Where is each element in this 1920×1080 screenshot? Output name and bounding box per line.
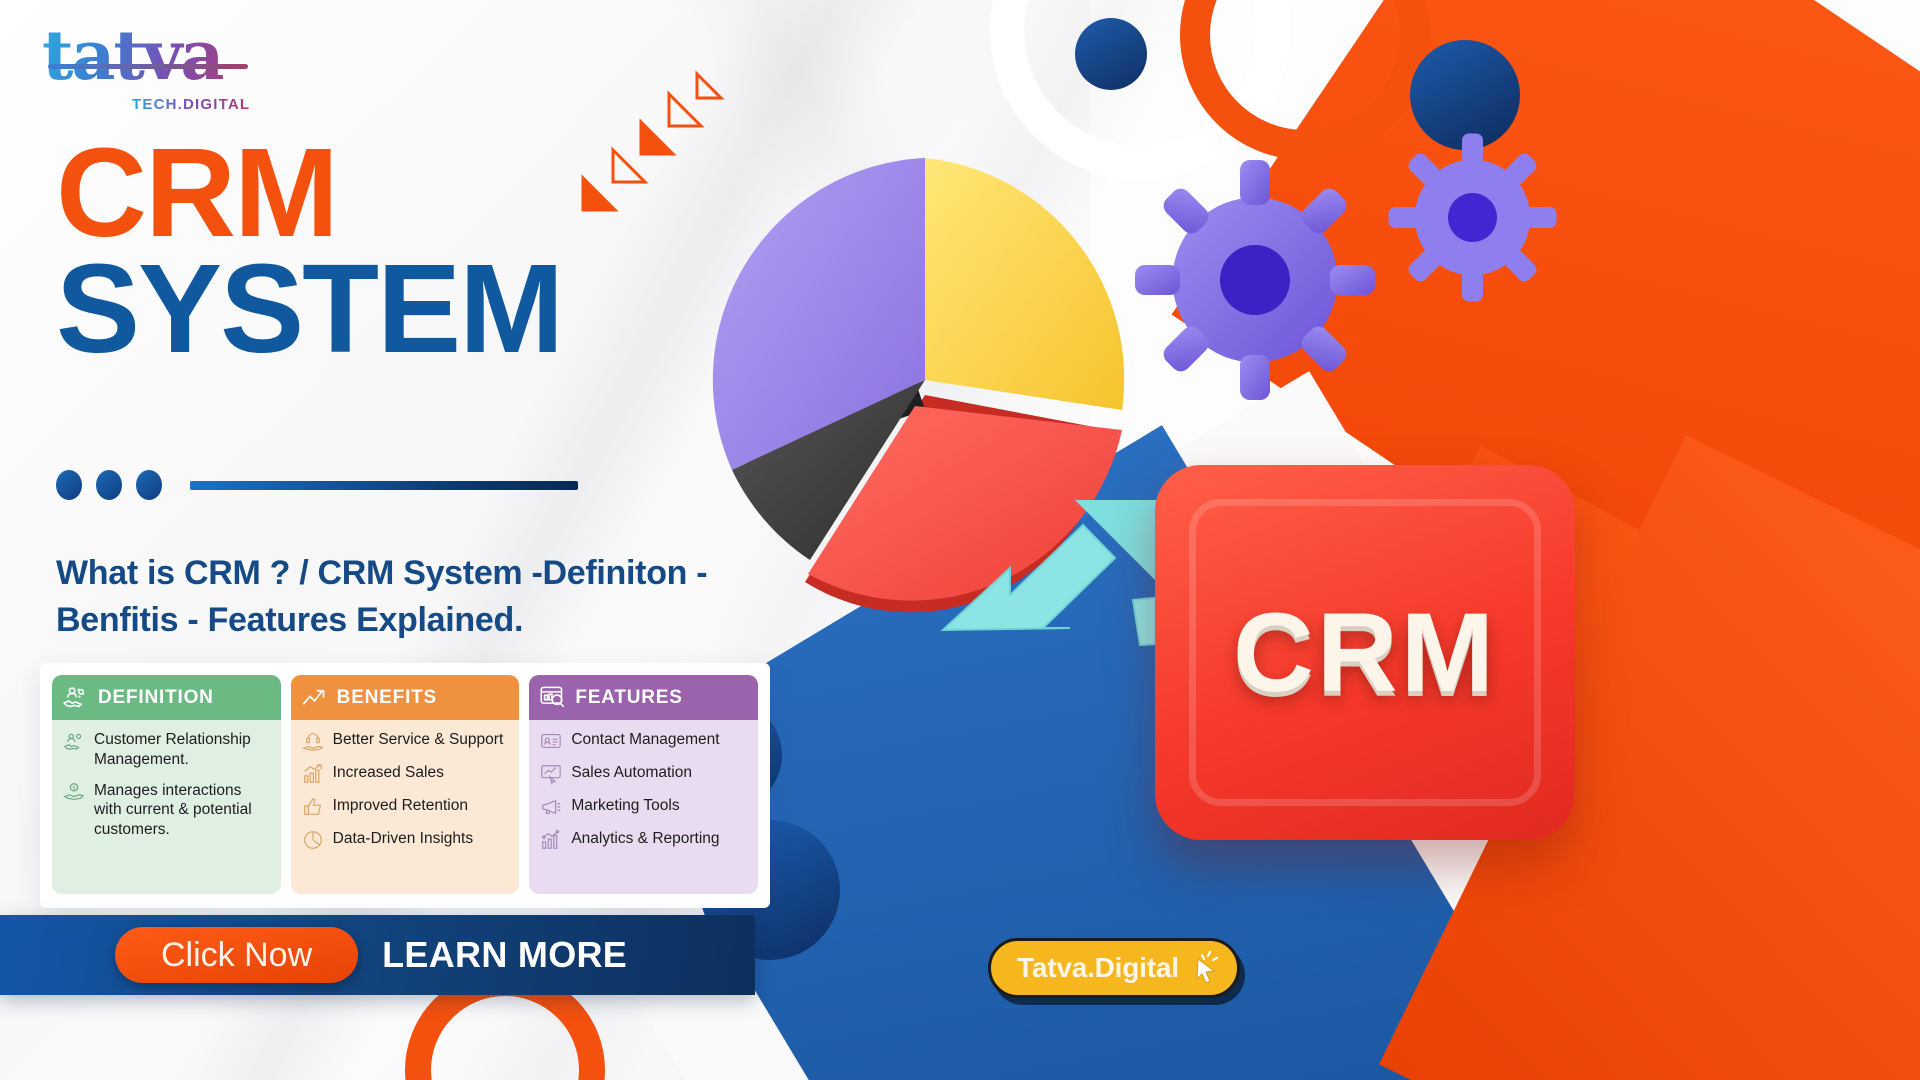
tatva-digital-badge[interactable]: Tatva.Digital xyxy=(988,938,1240,998)
list-item-text: Customer Relationship Management. xyxy=(94,730,270,770)
list-item-text: Analytics & Reporting xyxy=(571,829,719,849)
list-item: Analytics & Reporting xyxy=(540,829,747,851)
list-item: Better Service & Support xyxy=(302,730,509,752)
divider-dot xyxy=(56,470,82,500)
gear-icon-large xyxy=(1130,155,1380,405)
info-cards-panel: DEFINITION Customer Relationship Managem… xyxy=(40,663,770,908)
bar-chart-up-icon xyxy=(302,763,324,785)
crm-3d-card: CRM xyxy=(1155,465,1575,840)
list-item: Customer Relationship Management. xyxy=(63,730,270,770)
brand-logo-tagline: TECH.DIGITAL xyxy=(132,96,250,113)
presentation-click-icon xyxy=(540,763,562,785)
list-item: Improved Retention xyxy=(302,796,509,818)
card-definition-body: Customer Relationship Management. $ Mana… xyxy=(52,720,281,894)
analytics-chart-icon xyxy=(540,829,562,851)
title-divider xyxy=(56,470,578,500)
handshake-gear-icon xyxy=(63,730,85,752)
gear-icon-small xyxy=(1385,130,1560,305)
tatva-digital-badge-label: Tatva.Digital xyxy=(1017,952,1179,984)
poster-left-content: tatva TECH.DIGITAL CRM SYSTEM What is CR… xyxy=(0,0,780,1080)
card-features-title: FEATURES xyxy=(575,687,682,709)
card-benefits-header: BENEFITS xyxy=(291,675,520,720)
decor-navy-dot-small xyxy=(1075,18,1147,90)
learn-more-label[interactable]: LEARN MORE xyxy=(382,934,627,976)
list-item: $ Manages interactions with current & po… xyxy=(63,781,270,840)
list-item: Data-Driven Insights xyxy=(302,829,509,851)
card-features-header: FEATURES xyxy=(529,675,758,720)
page-title: CRM SYSTEM xyxy=(56,135,562,367)
crm-card-label: CRM xyxy=(1155,465,1575,840)
megaphone-icon xyxy=(540,796,562,818)
list-item-text: Data-Driven Insights xyxy=(333,829,473,849)
cta-bar: Click Now LEARN MORE xyxy=(0,915,755,995)
brand-logo-word: tatva xyxy=(42,22,252,90)
thumbs-up-icon xyxy=(302,796,324,818)
page-title-line2: SYSTEM xyxy=(56,251,562,367)
card-benefits-body: Better Service & Support Increased Sales… xyxy=(291,720,520,894)
contact-card-icon xyxy=(540,730,562,752)
dashboard-search-icon xyxy=(539,684,566,711)
list-item: Marketing Tools xyxy=(540,796,747,818)
growth-arrow-icon xyxy=(301,684,328,711)
list-item: Sales Automation xyxy=(540,763,747,785)
divider-bar xyxy=(190,481,578,490)
svg-text:$: $ xyxy=(72,785,75,791)
list-item: Contact Management xyxy=(540,730,747,752)
brand-logo-strike xyxy=(48,64,248,69)
divider-dot xyxy=(96,470,122,500)
list-item-text: Contact Management xyxy=(571,730,719,750)
page-title-line1: CRM xyxy=(56,135,562,251)
headset-support-icon xyxy=(302,730,324,752)
list-item-text: Increased Sales xyxy=(333,763,444,783)
click-cursor-icon xyxy=(1185,951,1219,985)
divider-dot xyxy=(136,470,162,500)
pie-chart-icon xyxy=(302,829,324,851)
card-features-body: Contact Management Sales Automation Mark… xyxy=(529,720,758,894)
list-item-text: Better Service & Support xyxy=(333,730,504,750)
brand-logo[interactable]: tatva TECH.DIGITAL xyxy=(42,22,252,90)
hand-money-icon: $ xyxy=(63,781,85,803)
card-definition: DEFINITION Customer Relationship Managem… xyxy=(52,675,281,894)
card-benefits: BENEFITS Better Service & Support Increa… xyxy=(291,675,520,894)
list-item-text: Manages interactions with current & pote… xyxy=(94,781,270,840)
list-item-text: Marketing Tools xyxy=(571,796,679,816)
handshake-gear-icon xyxy=(62,684,89,711)
card-benefits-title: BENEFITS xyxy=(337,687,437,709)
list-item-text: Improved Retention xyxy=(333,796,468,816)
card-definition-header: DEFINITION xyxy=(52,675,281,720)
list-item-text: Sales Automation xyxy=(571,763,692,783)
list-item: Increased Sales xyxy=(302,763,509,785)
card-definition-title: DEFINITION xyxy=(98,687,214,709)
card-features: FEATURES Contact Management Sales Automa… xyxy=(529,675,758,894)
click-now-button[interactable]: Click Now xyxy=(115,927,358,983)
page-subtitle: What is CRM ? / CRM System -Definiton - … xyxy=(56,550,716,644)
